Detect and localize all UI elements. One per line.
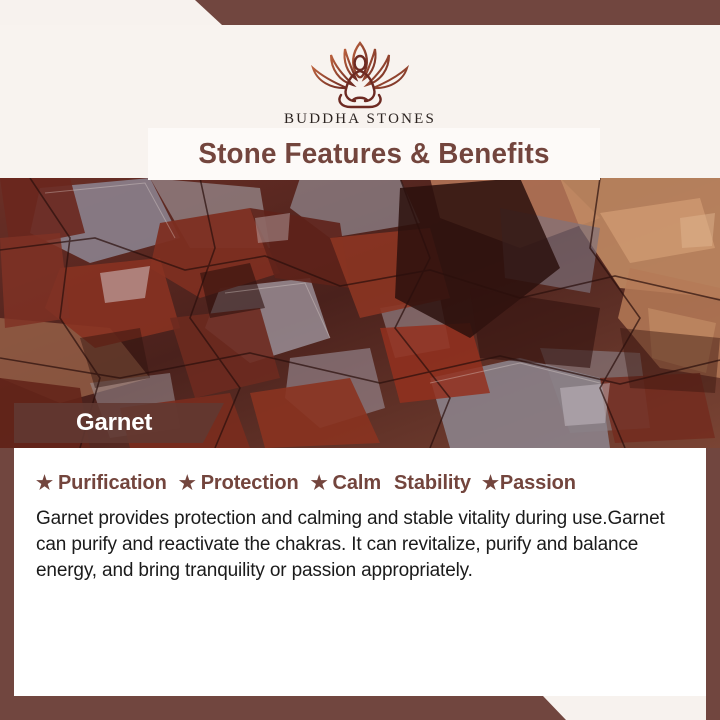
lotus-meditation-icon [285,31,435,109]
benefit-label: Passion [500,472,576,495]
stone-description: Garnet provides protection and calming a… [36,506,684,584]
page-title: Stone Features & Benefits [198,138,549,171]
benefit-protection: ★ Protection [179,472,299,495]
star-icon: ★ [179,474,196,493]
benefit-label: Protection [201,472,299,495]
stone-name: Garnet [76,409,152,437]
section-title-card: Stone Features & Benefits [148,128,600,180]
stone-name-banner: Garnet [14,403,224,443]
benefit-calm: ★ Calm [311,472,381,495]
stone-info-card: BUDDHA STONES Stone Features & Benefits [0,0,720,720]
benefit-purification: ★ Purification [36,472,167,495]
benefits-list: ★ Purification ★ Protection ★ Calm Stabi… [36,472,684,495]
benefit-passion: ★ Passion [482,472,576,495]
benefit-label: Stability [394,472,471,495]
left-accent-bar [0,430,14,720]
top-accent-bar [0,0,720,25]
brand-name: BUDDHA STONES [284,111,436,128]
benefit-label: Purification [58,472,167,495]
bottom-accent-bar [0,696,720,720]
star-icon: ★ [36,474,53,493]
benefit-label: Calm [333,472,382,495]
benefit-stability: Stability [394,472,471,495]
star-icon: ★ [311,474,328,493]
stone-details-card: ★ Purification ★ Protection ★ Calm Stabi… [14,448,706,696]
star-icon: ★ [482,474,499,493]
